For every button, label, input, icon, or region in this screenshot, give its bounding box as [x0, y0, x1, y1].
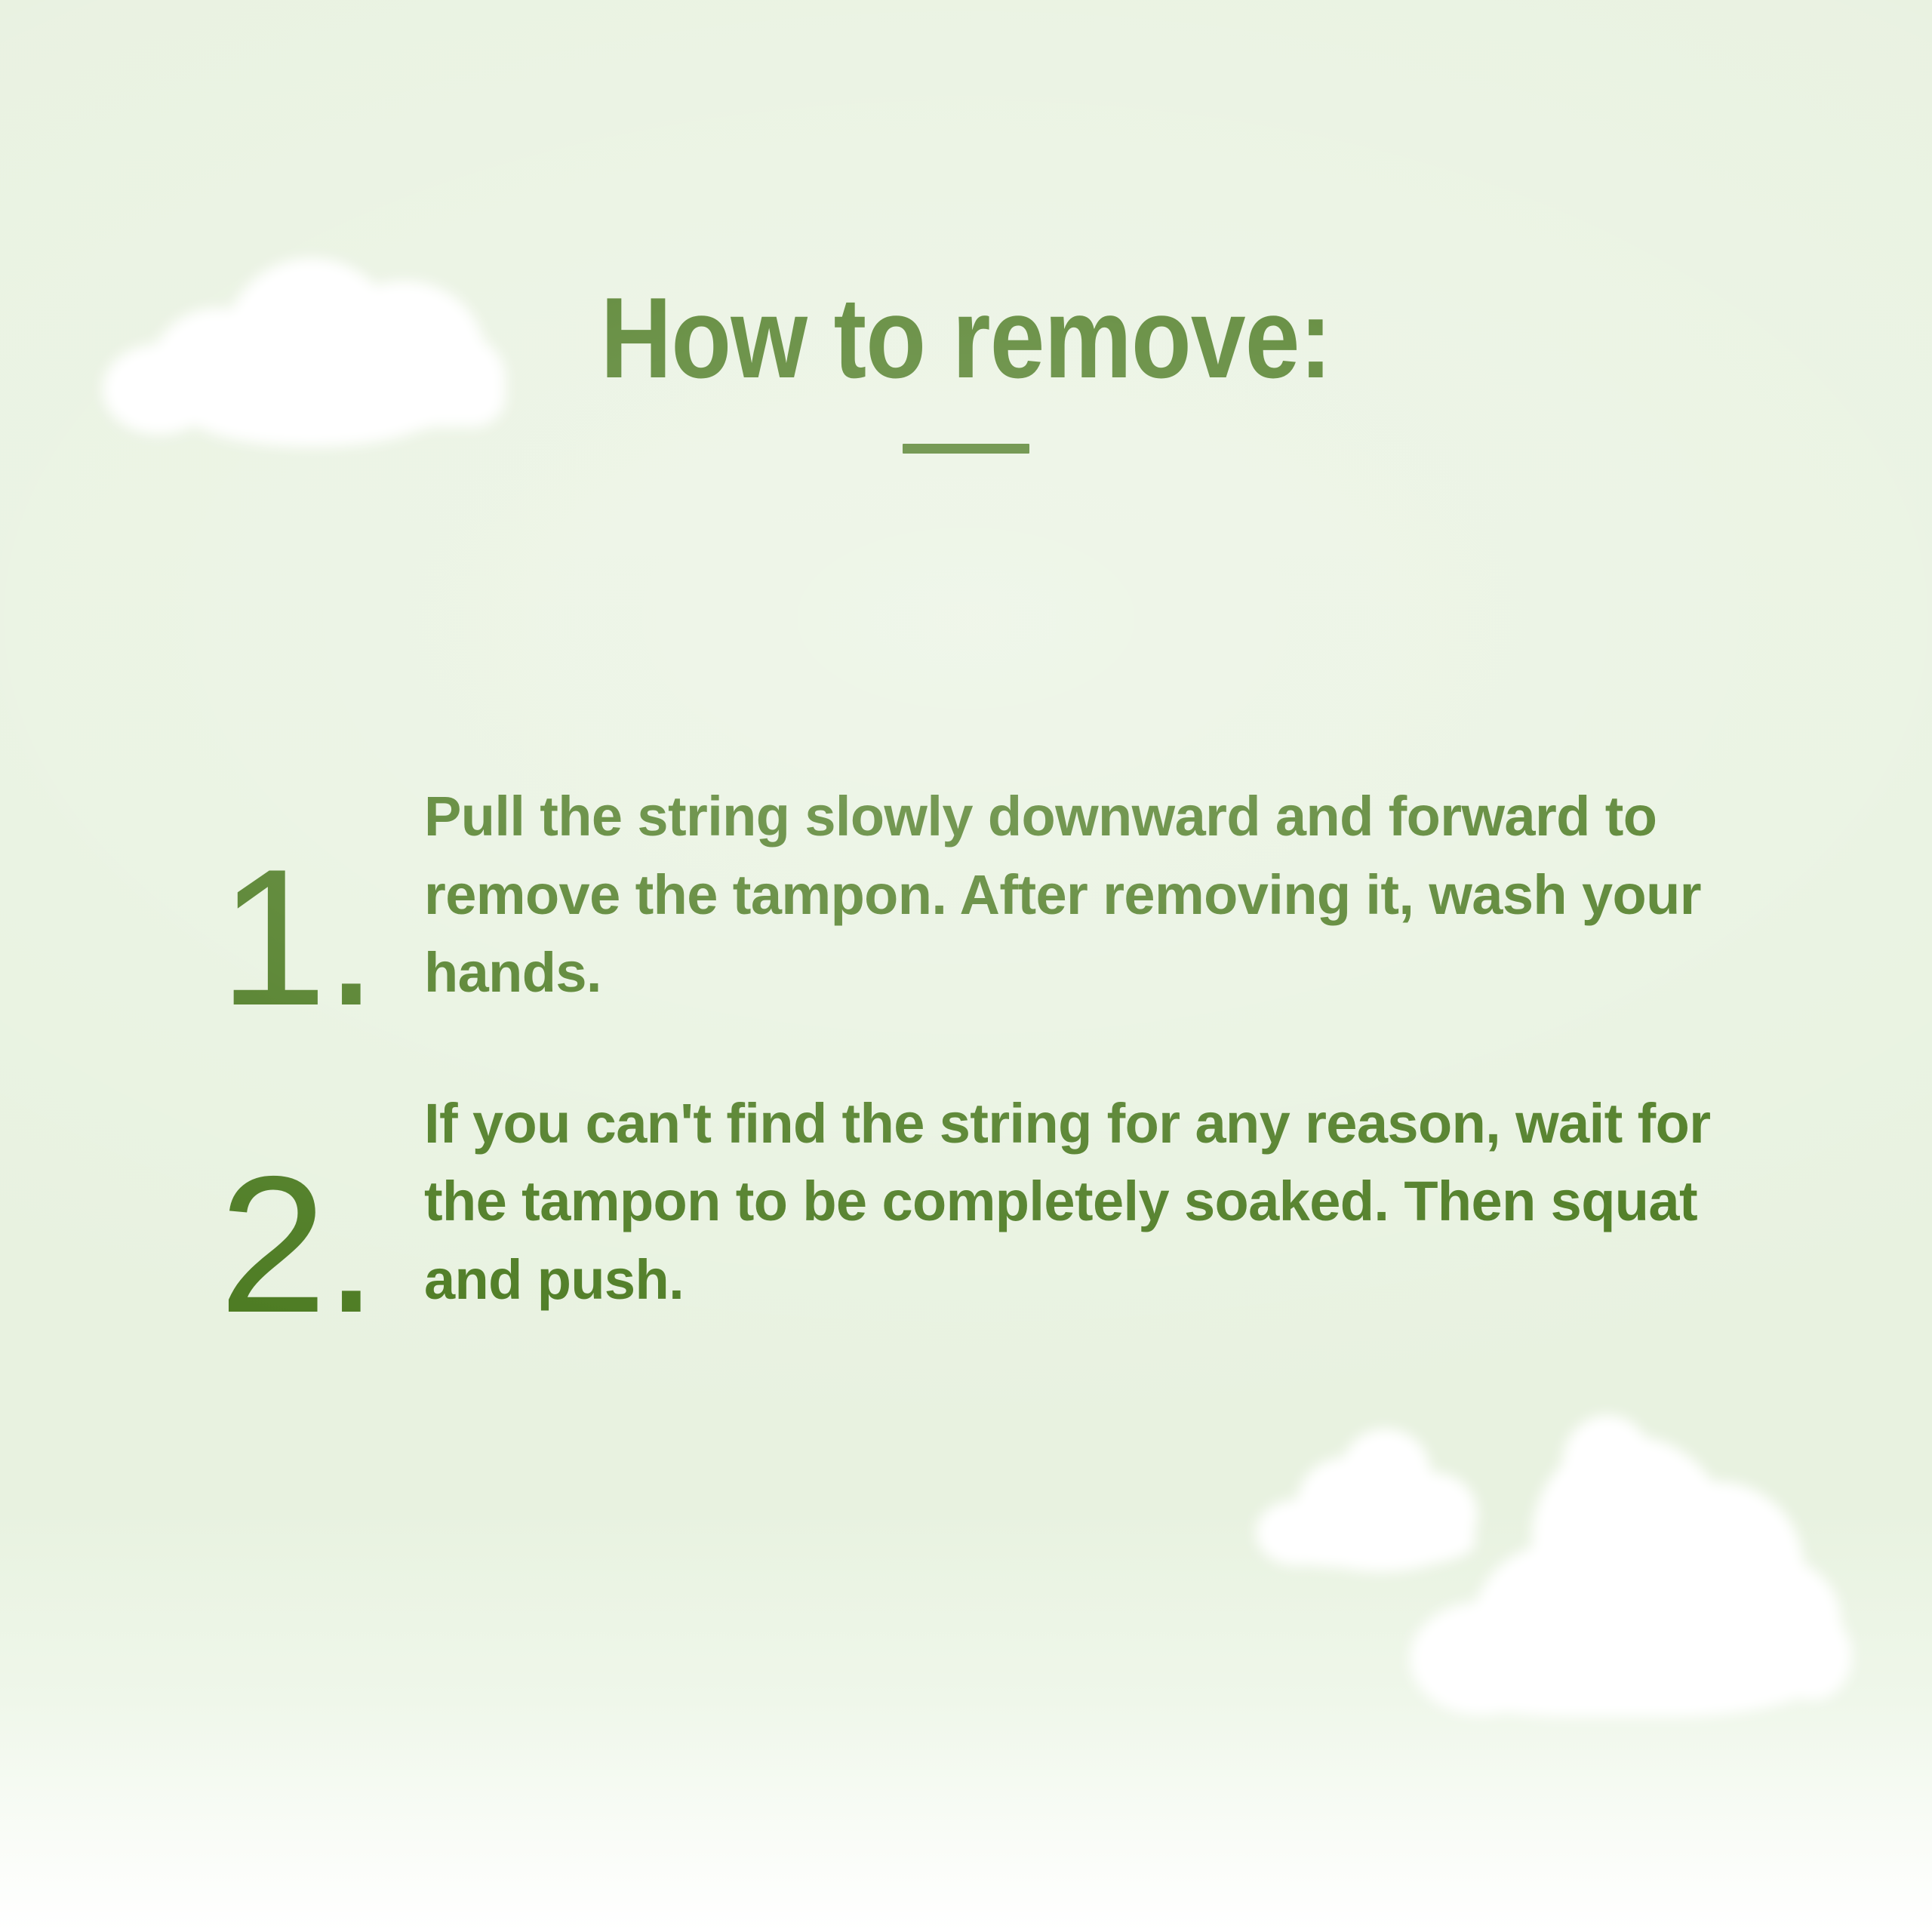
cloud-puff	[1340, 1429, 1431, 1519]
cloud-puff	[1389, 1472, 1478, 1557]
cloud-puff	[1473, 1543, 1647, 1706]
cloud-puff	[1630, 1481, 1804, 1655]
steps-list: 1. Pull the string slowly downward and f…	[219, 777, 1766, 1319]
step-number-1: 1.	[219, 851, 424, 1023]
cloud-puff	[1774, 1611, 1852, 1700]
step-text-2: If you can't find the string for any rea…	[424, 1084, 1752, 1319]
title-divider	[903, 444, 1029, 454]
poster-canvas: How to remove: 1. Pull the string slowly…	[0, 0, 1932, 1932]
cloud-puff	[1562, 1415, 1653, 1513]
cloud-puff	[1260, 1489, 1475, 1567]
step-number-2: 2.	[219, 1158, 424, 1330]
cloud-puff	[1256, 1500, 1339, 1566]
cloud-icon-bottom-large	[1404, 1392, 1849, 1740]
list-item-step-1: 1. Pull the string slowly downward and f…	[219, 777, 1766, 1012]
cloud-puff	[1410, 1602, 1553, 1715]
cloud-puff	[1297, 1457, 1395, 1552]
step-text-1: Pull the string slowly downward and forw…	[424, 777, 1752, 1012]
page-title: How to remove:	[135, 281, 1797, 395]
cloud-puff	[1706, 1557, 1841, 1689]
list-item-step-2: 2. If you can't find the string for any …	[219, 1084, 1766, 1319]
cloud-puff	[1306, 1513, 1457, 1572]
header: How to remove:	[0, 281, 1932, 454]
cloud-icon-bottom-small	[1253, 1400, 1494, 1589]
cloud-puff	[1419, 1581, 1826, 1717]
cloud-puff	[1494, 1619, 1796, 1715]
cloud-puff	[1532, 1436, 1728, 1638]
